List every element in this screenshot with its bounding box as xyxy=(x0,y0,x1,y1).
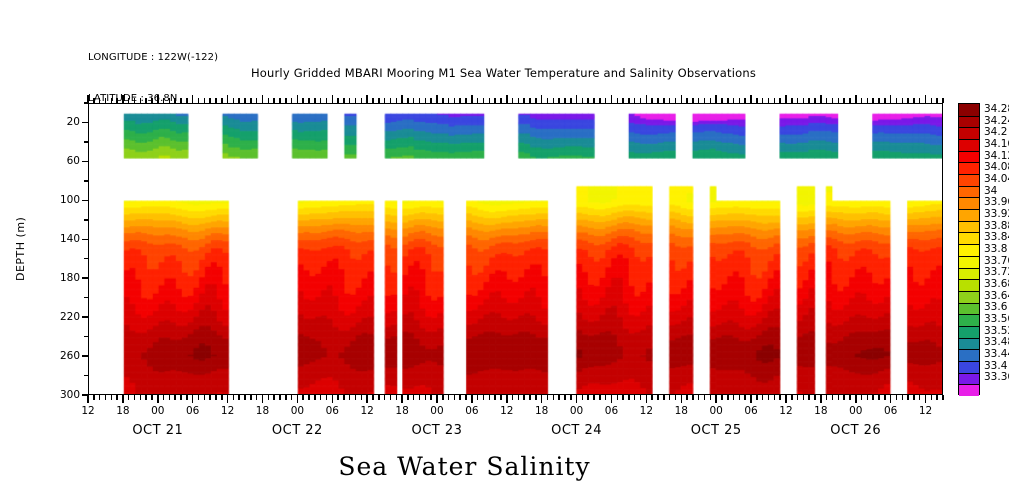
colorbar-tick-label: 34.12 xyxy=(984,150,1009,162)
x-tick-minor xyxy=(314,395,316,400)
colorbar-swatch xyxy=(959,338,979,350)
colorbar-swatch xyxy=(959,279,979,291)
colorbar-tick-label: 34.2 xyxy=(984,126,1007,138)
colorbar-swatch xyxy=(959,221,979,233)
colorbar-divider xyxy=(959,186,979,187)
figure-caption-text: Sea Water Salinity xyxy=(338,452,590,481)
x-tick-minor xyxy=(797,395,799,400)
colorbar-tick-label: 33.44 xyxy=(984,348,1009,360)
x-tick-minor xyxy=(198,395,200,400)
x-tick-major xyxy=(506,395,508,403)
x-tick-minor xyxy=(523,395,525,400)
x-tick-minor xyxy=(483,395,485,400)
x-tick-minor xyxy=(547,395,549,400)
x-tick-minor xyxy=(128,395,130,400)
x-tick-major xyxy=(820,395,822,403)
colorbar-swatch xyxy=(959,151,979,163)
colorbar-tick-label: 34 xyxy=(984,185,997,197)
x-day-label: OCT 26 xyxy=(830,423,881,438)
colorbar-tick-label: 34.16 xyxy=(984,138,1009,150)
colorbar-swatch xyxy=(959,314,979,326)
colorbar-tick-label: 33.72 xyxy=(984,266,1009,278)
x-tick-label: 00 xyxy=(151,405,164,417)
x-tick-major xyxy=(715,395,717,403)
x-tick-label: 12 xyxy=(221,405,234,417)
x-tick-major-top xyxy=(681,95,683,103)
x-tick-major-top xyxy=(401,95,403,103)
x-tick-minor xyxy=(686,395,688,400)
colorbar-swatch xyxy=(959,232,979,244)
x-tick-label: 06 xyxy=(326,405,339,417)
x-tick-minor xyxy=(867,395,869,400)
x-tick-minor xyxy=(640,395,642,400)
x-tick-major-top xyxy=(506,95,508,103)
colorbar-divider xyxy=(959,361,979,362)
colorbar-swatch xyxy=(959,349,979,361)
x-day-label: OCT 24 xyxy=(551,423,602,438)
x-tick-minor xyxy=(256,395,258,400)
colorbar-swatch xyxy=(959,291,979,303)
x-tick-label: 06 xyxy=(605,405,618,417)
x-tick-major-top xyxy=(192,95,194,103)
x-tick-major-top xyxy=(750,95,752,103)
x-tick-major xyxy=(192,395,194,403)
x-tick-major xyxy=(541,395,543,403)
colorbar-swatch xyxy=(959,373,979,385)
x-tick-major-top xyxy=(87,95,89,103)
colorbar-swatch xyxy=(959,384,979,396)
y-tick-label: 140 xyxy=(60,233,80,245)
x-tick-label: 18 xyxy=(395,405,408,417)
colorbar-swatch xyxy=(959,361,979,373)
x-tick-major xyxy=(122,395,124,403)
x-tick-label: 12 xyxy=(919,405,932,417)
colorbar-tick-label: 33.56 xyxy=(984,313,1009,325)
x-tick-major xyxy=(576,395,578,403)
colorbar-swatch xyxy=(959,326,979,338)
x-tick-major-top xyxy=(715,95,717,103)
x-tick-major-top xyxy=(646,95,648,103)
colorbar xyxy=(958,103,980,395)
x-tick-minor xyxy=(582,395,584,400)
colorbar-tick-label: 33.8 xyxy=(984,243,1007,255)
x-tick-minor xyxy=(151,395,153,400)
x-tick-major-top xyxy=(122,95,124,103)
colorbar-divider xyxy=(959,279,979,280)
colorbar-divider xyxy=(959,162,979,163)
x-tick-minor xyxy=(250,395,252,400)
x-tick-minor xyxy=(942,395,944,400)
x-tick-major xyxy=(925,395,927,403)
colorbar-divider xyxy=(959,326,979,327)
colorbar-divider xyxy=(959,314,979,315)
figure-caption: Sea Water Salinity xyxy=(0,452,1009,481)
x-tick-minor xyxy=(413,395,415,400)
x-tick-major-top xyxy=(297,95,299,103)
x-tick-minor xyxy=(320,395,322,400)
colorbar-divider xyxy=(959,127,979,128)
x-tick-minor xyxy=(459,395,461,400)
x-tick-minor xyxy=(808,395,810,400)
x-tick-minor xyxy=(407,395,409,400)
x-tick-minor xyxy=(814,395,816,400)
x-tick-minor xyxy=(605,395,607,400)
x-tick-major xyxy=(471,395,473,403)
colorbar-divider xyxy=(959,268,979,269)
colorbar-divider xyxy=(959,256,979,257)
x-tick-minor xyxy=(291,395,293,400)
plot-area xyxy=(88,103,943,395)
x-tick-minor xyxy=(704,395,706,400)
x-tick-minor xyxy=(762,395,764,400)
colorbar-swatch xyxy=(959,303,979,315)
x-tick-label: 06 xyxy=(744,405,757,417)
x-tick-major xyxy=(436,395,438,403)
x-tick-major xyxy=(227,395,229,403)
x-tick-major xyxy=(262,395,264,403)
x-tick-minor xyxy=(425,395,427,400)
x-tick-major xyxy=(366,395,368,403)
x-tick-major-top xyxy=(925,95,927,103)
y-tick-label: 180 xyxy=(60,272,80,284)
x-tick-label: 06 xyxy=(465,405,478,417)
x-tick-minor xyxy=(238,395,240,400)
x-tick-label: 12 xyxy=(81,405,94,417)
x-tick-label: 12 xyxy=(500,405,513,417)
x-tick-minor xyxy=(587,395,589,400)
x-tick-minor xyxy=(832,395,834,400)
colorbar-divider xyxy=(959,303,979,304)
x-tick-minor xyxy=(913,395,915,400)
x-tick-label: 00 xyxy=(709,405,722,417)
x-tick-label: 18 xyxy=(256,405,269,417)
x-tick-minor xyxy=(163,395,165,400)
chart-title: Hourly Gridded MBARI Mooring M1 Sea Wate… xyxy=(0,66,1009,80)
colorbar-tick-label: 33.68 xyxy=(984,278,1009,290)
x-tick-minor xyxy=(756,395,758,400)
colorbar-divider xyxy=(959,221,979,222)
x-tick-minor xyxy=(361,395,363,400)
x-tick-minor xyxy=(285,395,287,400)
x-tick-label: 12 xyxy=(360,405,373,417)
salinity-contour-field xyxy=(89,104,942,394)
x-tick-minor xyxy=(180,395,182,400)
x-tick-label: 18 xyxy=(814,405,827,417)
x-tick-label: 18 xyxy=(535,405,548,417)
x-day-label: OCT 21 xyxy=(132,423,183,438)
colorbar-divider xyxy=(959,197,979,198)
x-tick-minor xyxy=(593,395,595,400)
x-tick-minor xyxy=(739,395,741,400)
top-axis-ticks xyxy=(88,95,943,103)
x-tick-minor xyxy=(622,395,624,400)
y-axis: 2060100140180220260300 xyxy=(0,103,88,395)
x-tick-minor xyxy=(105,395,107,400)
x-tick-minor xyxy=(221,395,223,400)
colorbar-swatch xyxy=(959,209,979,221)
colorbar-divider xyxy=(959,349,979,350)
x-tick-major-top xyxy=(366,95,368,103)
x-tick-minor xyxy=(186,395,188,400)
x-tick-major xyxy=(890,395,892,403)
x-tick-minor xyxy=(535,395,537,400)
colorbar-divider xyxy=(959,338,979,339)
x-tick-major-top xyxy=(785,95,787,103)
x-tick-minor xyxy=(936,395,938,400)
x-tick-minor xyxy=(268,395,270,400)
colorbar-divider xyxy=(959,244,979,245)
colorbar-tick-label: 33.84 xyxy=(984,231,1009,243)
x-tick-minor xyxy=(355,395,357,400)
x-tick-minor xyxy=(849,395,851,400)
x-tick-minor xyxy=(744,395,746,400)
colorbar-tick-label: 33.48 xyxy=(984,336,1009,348)
x-tick-minor xyxy=(698,395,700,400)
x-tick-minor xyxy=(489,395,491,400)
x-tick-minor xyxy=(140,395,142,400)
x-tick-minor xyxy=(233,395,235,400)
x-tick-label: 12 xyxy=(779,405,792,417)
colorbar-swatch xyxy=(959,116,979,128)
x-day-label: OCT 25 xyxy=(691,423,742,438)
x-tick-label: 00 xyxy=(430,405,443,417)
colorbar-divider xyxy=(959,232,979,233)
x-tick-minor xyxy=(419,395,421,400)
x-tick-minor xyxy=(657,395,659,400)
x-tick-minor xyxy=(396,395,398,400)
x-tick-major xyxy=(750,395,752,403)
colorbar-swatch xyxy=(959,256,979,268)
x-tick-minor xyxy=(675,395,677,400)
x-tick-minor xyxy=(145,395,147,400)
x-tick-major-top xyxy=(436,95,438,103)
x-tick-major-top xyxy=(262,95,264,103)
x-tick-minor xyxy=(337,395,339,400)
x-tick-major xyxy=(681,395,683,403)
longitude-text: LONGITUDE : 122W(-122) xyxy=(88,51,218,65)
x-tick-minor xyxy=(215,395,217,400)
y-tick-label: 220 xyxy=(60,311,80,323)
x-tick-label: 12 xyxy=(640,405,653,417)
x-tick-major xyxy=(855,395,857,403)
x-tick-major-top xyxy=(820,95,822,103)
x-tick-minor xyxy=(558,395,560,400)
x-tick-major-top xyxy=(471,95,473,103)
x-tick-minor xyxy=(884,395,886,400)
x-tick-minor xyxy=(204,395,206,400)
x-tick-minor xyxy=(878,395,880,400)
x-tick-major-top xyxy=(227,95,229,103)
colorbar-divider xyxy=(959,209,979,210)
x-tick-minor xyxy=(442,395,444,400)
x-tick-minor xyxy=(384,395,386,400)
x-tick-minor xyxy=(308,395,310,400)
x-tick-minor xyxy=(826,395,828,400)
x-tick-major xyxy=(785,395,787,403)
x-tick-minor xyxy=(326,395,328,400)
x-tick-minor xyxy=(634,395,636,400)
y-tick-label: 60 xyxy=(67,155,80,167)
x-tick-minor xyxy=(372,395,374,400)
colorbar-divider xyxy=(959,174,979,175)
x-tick-minor xyxy=(273,395,275,400)
y-tick-label: 300 xyxy=(60,389,80,401)
x-tick-minor xyxy=(692,395,694,400)
x-tick-major xyxy=(297,395,299,403)
y-tick-label: 20 xyxy=(67,116,80,128)
x-tick-minor xyxy=(349,395,351,400)
x-tick-minor xyxy=(99,395,101,400)
colorbar-tick-label: 33.64 xyxy=(984,290,1009,302)
colorbar-swatch xyxy=(959,127,979,139)
x-tick-major xyxy=(157,395,159,403)
x-tick-minor xyxy=(448,395,450,400)
x-tick-minor xyxy=(599,395,601,400)
x-tick-minor xyxy=(93,395,95,400)
colorbar-swatch xyxy=(959,268,979,280)
x-tick-minor xyxy=(733,395,735,400)
x-tick-minor xyxy=(500,395,502,400)
colorbar-tick-label: 34.08 xyxy=(984,161,1009,173)
x-tick-minor xyxy=(768,395,770,400)
x-tick-major-top xyxy=(332,95,334,103)
x-tick-minor xyxy=(343,395,345,400)
colorbar-tick-label: 34.04 xyxy=(984,173,1009,185)
x-tick-minor xyxy=(465,395,467,400)
x-tick-major-top xyxy=(157,95,159,103)
colorbar-divider xyxy=(959,116,979,117)
colorbar-tick-label: 33.36 xyxy=(984,371,1009,383)
x-tick-major xyxy=(611,395,613,403)
x-tick-label: 18 xyxy=(116,405,129,417)
colorbar-divider xyxy=(959,291,979,292)
x-tick-minor xyxy=(553,395,555,400)
x-tick-minor xyxy=(803,395,805,400)
x-tick-minor xyxy=(454,395,456,400)
x-tick-minor xyxy=(279,395,281,400)
x-tick-minor xyxy=(710,395,712,400)
x-tick-minor xyxy=(651,395,653,400)
x-tick-minor xyxy=(774,395,776,400)
x-tick-minor xyxy=(727,395,729,400)
x-tick-major-top xyxy=(541,95,543,103)
x-axis: 1218000612180006121800061218000612180006… xyxy=(88,395,943,445)
salinity-figure: LONGITUDE : 122W(-122) LATITUDE : 36.8N … xyxy=(0,0,1009,504)
x-tick-minor xyxy=(838,395,840,400)
x-tick-label: 18 xyxy=(675,405,688,417)
x-tick-minor xyxy=(721,395,723,400)
y-tick-label: 260 xyxy=(60,350,80,362)
x-tick-minor xyxy=(390,395,392,400)
x-tick-minor xyxy=(896,395,898,400)
x-tick-minor xyxy=(779,395,781,400)
x-tick-minor xyxy=(116,395,118,400)
x-tick-minor xyxy=(919,395,921,400)
x-tick-label: 00 xyxy=(849,405,862,417)
colorbar-divider xyxy=(959,151,979,152)
colorbar-swatch xyxy=(959,104,979,116)
x-tick-minor xyxy=(570,395,572,400)
x-tick-minor xyxy=(791,395,793,400)
x-tick-major xyxy=(87,395,89,403)
colorbar-tick-label: 34.28 xyxy=(984,103,1009,115)
x-tick-major-top xyxy=(890,95,892,103)
colorbar-tick-label: 33.6 xyxy=(984,301,1007,313)
y-tick-label: 100 xyxy=(60,194,80,206)
x-tick-minor xyxy=(111,395,113,400)
x-tick-minor xyxy=(663,395,665,400)
x-day-label: OCT 23 xyxy=(412,423,463,438)
colorbar-divider xyxy=(959,384,979,385)
x-tick-major xyxy=(401,395,403,403)
x-tick-label: 00 xyxy=(291,405,304,417)
x-tick-minor xyxy=(902,395,904,400)
colorbar-tick-label: 33.96 xyxy=(984,196,1009,208)
colorbar-swatch xyxy=(959,162,979,174)
x-tick-minor xyxy=(872,395,874,400)
x-tick-major-top xyxy=(576,95,578,103)
x-tick-minor xyxy=(378,395,380,400)
colorbar-tick-label: 33.4 xyxy=(984,360,1007,372)
x-tick-minor xyxy=(861,395,863,400)
x-tick-minor xyxy=(430,395,432,400)
x-tick-minor xyxy=(907,395,909,400)
x-tick-minor xyxy=(209,395,211,400)
colorbar-swatch xyxy=(959,244,979,256)
colorbar-tick-label: 34.24 xyxy=(984,115,1009,127)
colorbar-swatch xyxy=(959,174,979,186)
colorbar-tick-label: 33.88 xyxy=(984,220,1009,232)
x-tick-minor xyxy=(564,395,566,400)
colorbar-tick-label: 33.76 xyxy=(984,255,1009,267)
colorbar-tick-label: 33.92 xyxy=(984,208,1009,220)
chart-title-text: Hourly Gridded MBARI Mooring M1 Sea Wate… xyxy=(251,66,756,80)
x-tick-minor xyxy=(931,395,933,400)
x-tick-minor xyxy=(477,395,479,400)
x-tick-minor xyxy=(669,395,671,400)
x-tick-label: 06 xyxy=(186,405,199,417)
x-tick-minor xyxy=(628,395,630,400)
x-tick-minor xyxy=(169,395,171,400)
x-tick-major xyxy=(332,395,334,403)
colorbar-divider xyxy=(959,373,979,374)
x-tick-minor xyxy=(244,395,246,400)
x-tick-minor xyxy=(518,395,520,400)
x-tick-minor xyxy=(302,395,304,400)
colorbar-divider xyxy=(959,139,979,140)
x-tick-major-top xyxy=(611,95,613,103)
colorbar-swatch xyxy=(959,139,979,151)
x-tick-major xyxy=(646,395,648,403)
x-day-label: OCT 22 xyxy=(272,423,323,438)
x-tick-minor xyxy=(512,395,514,400)
x-tick-label: 06 xyxy=(884,405,897,417)
x-tick-minor xyxy=(134,395,136,400)
x-tick-label: 00 xyxy=(570,405,583,417)
x-tick-minor xyxy=(529,395,531,400)
colorbar-swatch xyxy=(959,197,979,209)
x-tick-minor xyxy=(843,395,845,400)
x-tick-major-top xyxy=(855,95,857,103)
x-tick-minor xyxy=(174,395,176,400)
x-tick-minor xyxy=(494,395,496,400)
colorbar-swatch xyxy=(959,186,979,198)
colorbar-tick-label: 33.52 xyxy=(984,325,1009,337)
x-tick-minor xyxy=(617,395,619,400)
